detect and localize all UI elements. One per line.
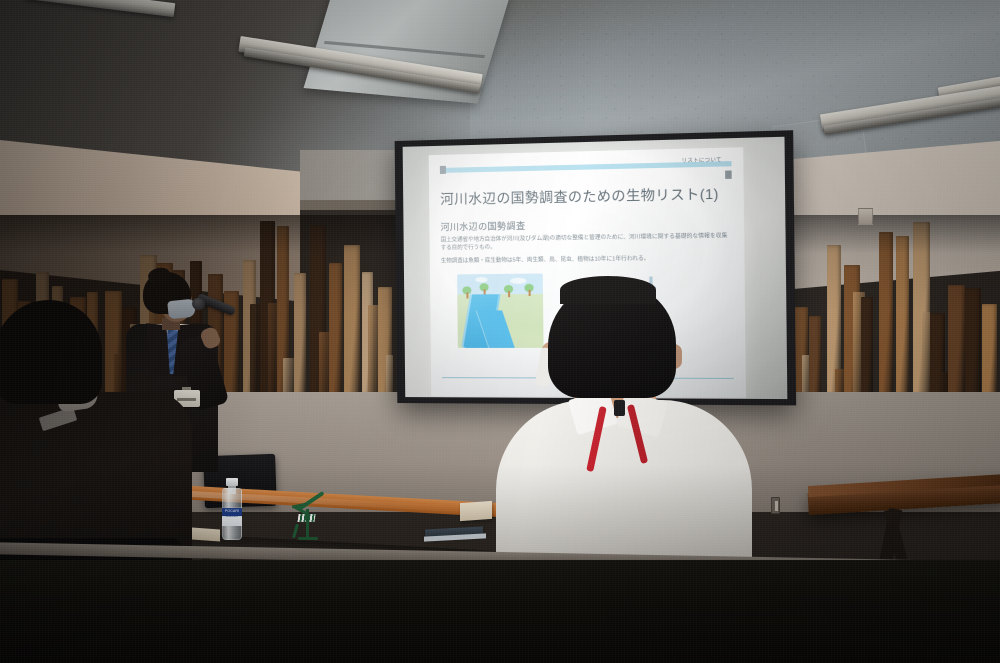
stand-leg [292,524,299,538]
stand-post [306,509,309,540]
wall-light-switch[interactable] [771,497,780,514]
bottle-cap [226,478,238,486]
lanyard-clip [614,400,625,416]
bottle-label-line1: POCARI [222,509,242,513]
pocari-sweat-bottle[interactable]: POCARI SWEAT [222,478,242,540]
slide-paragraph: 国土交通省や地方自治体が河川(及びダム湖)の適切な整備と管理のために、河川環境に… [441,233,733,253]
slide-subheading: 河川水辺の国勢調査 [440,215,732,233]
green-metal-stand[interactable] [288,495,330,540]
slide-header-square-right [725,170,732,178]
slide-body-text: 国土交通省や地方自治体が河川(及びダム湖)の適切な整備と管理のために、河川環境に… [441,233,733,266]
bottle-label-line2: SWEAT [222,514,242,518]
slide-header: リストについて [440,157,732,181]
attendee-hair [0,300,102,404]
bottle-label: POCARI SWEAT [222,508,242,526]
slide-title: 河川水辺の国勢調査のための生物リスト(1) [440,182,732,208]
wall-sensor-icon [858,208,873,225]
floor-carpet [0,560,1000,663]
slide-header-label: リストについて [681,156,721,164]
slide-paragraph: 生物調査は魚類・底生動物は5年、両生類、鳥、昆虫、植物は10年に1年行われる。 [441,255,733,266]
presentation-room-scene: リストについて 河川水辺の国勢調査のための生物リスト(1) 河川水辺の国勢調査 … [0,0,1000,663]
slide-header-square-left [440,166,446,174]
stand-base [298,537,318,540]
attendee-hair-top [560,276,656,304]
